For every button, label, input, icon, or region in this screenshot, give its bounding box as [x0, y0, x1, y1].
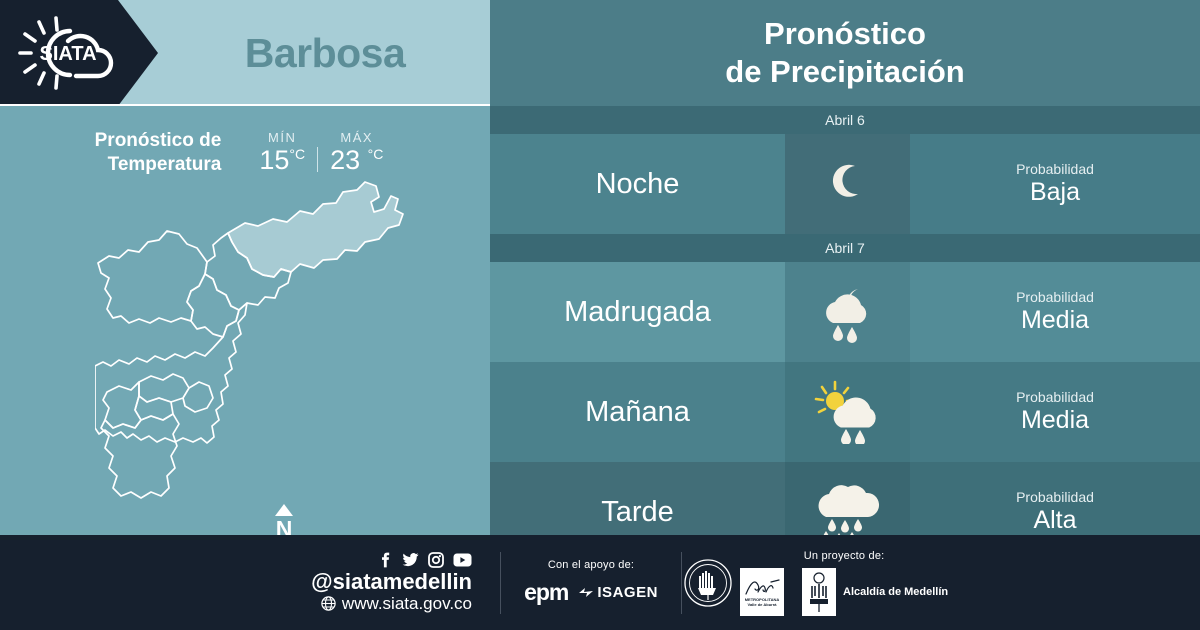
date-band-april-6: Abril 6	[490, 106, 1200, 134]
map-region-copacabana	[187, 274, 239, 337]
probability-value-tarde: Alta	[1033, 506, 1076, 535]
compass-arrow-icon	[275, 504, 293, 516]
temperature-max: MÁX 23 °C	[318, 130, 395, 176]
temperature-min-label: MÍN	[268, 130, 296, 145]
isagen-logo: ISAGEN	[578, 584, 658, 601]
social-handle[interactable]: @siatamedellin	[311, 570, 472, 594]
project-block: Un proyecto de: METROPOLITANA Valle de A…	[740, 550, 948, 616]
probability-caption: Probabilidad	[1016, 489, 1094, 505]
map-region-medellin	[95, 303, 247, 443]
globe-icon	[321, 596, 336, 611]
medellin-seal-glyph	[683, 558, 733, 608]
probability-caption: Probabilidad	[1016, 161, 1094, 177]
period-label-madrugada: Madrugada	[490, 262, 785, 362]
probability-value-noche: Baja	[1030, 178, 1080, 207]
celsius-unit-max: °C	[368, 146, 384, 162]
map-svg	[95, 176, 445, 526]
temperature-title-line1: Pronóstico de	[95, 129, 222, 153]
valle-de-aburra-map: N	[0, 176, 490, 535]
medellin-seal-icon	[682, 558, 734, 608]
alcaldia-logo-group: Alcaldía de Medellín	[802, 568, 948, 616]
moon-glyph	[820, 156, 876, 212]
header: SIATA Barbosa Pronóstico de Precipitació…	[0, 0, 1200, 106]
website-row[interactable]: www.siata.gov.co	[321, 594, 472, 614]
map-region-barbosa	[228, 182, 403, 277]
probability-caption: Probabilidad	[1016, 289, 1094, 305]
probability-value-manana: Media	[1021, 406, 1089, 435]
date-band-april-7: Abril 7	[490, 234, 1200, 262]
map-panel: Pronóstico de Temperatura MÍN 15°C MÁX 2…	[0, 106, 490, 535]
forecast-title: Pronóstico de Precipitación	[490, 0, 1200, 106]
celsius-unit-min: °C	[289, 146, 305, 162]
infographic-root: SIATA Barbosa Pronóstico de Precipitació…	[0, 0, 1200, 630]
header-divider	[0, 104, 490, 106]
sun-cloud-rain-glyph	[811, 380, 885, 444]
website-url: www.siata.gov.co	[342, 594, 472, 614]
temperature-min: MÍN 15°C	[247, 130, 317, 176]
map-region-bello	[98, 231, 207, 323]
city-title: Barbosa	[160, 0, 490, 106]
period-label-manana: Mañana	[490, 362, 785, 462]
forecast-row-madrugada[interactable]: Madrugada Probabilidad Media	[490, 262, 1200, 362]
support-caption: Con el apoyo de:	[548, 559, 634, 571]
temperature-min-value: 15°C	[259, 145, 305, 176]
instagram-icon[interactable]	[428, 552, 444, 568]
compass-north-label: N	[276, 517, 293, 535]
youtube-icon[interactable]	[453, 553, 472, 567]
area-script-icon	[743, 576, 781, 598]
compass-rose: N	[275, 504, 293, 535]
twitter-icon[interactable]	[402, 552, 419, 568]
map-region-itagui	[139, 374, 189, 402]
project-logos: METROPOLITANA Valle de Aburrá Alcaldía d…	[740, 568, 948, 616]
period-label-noche: Noche	[490, 134, 785, 234]
temperature-title-line2: Temperatura	[95, 153, 222, 177]
forecast-row-noche[interactable]: Noche Probabilidad Baja	[490, 134, 1200, 234]
temperature-max-value: 23 °C	[330, 145, 383, 176]
map-region-caldas	[101, 414, 179, 498]
footer: @siatamedellin www.siata.gov.co Con el a…	[0, 535, 1200, 630]
temperature-values: MÍN 15°C MÁX 23 °C	[247, 130, 395, 176]
forecast-title-line2: de Precipitación	[725, 53, 964, 91]
forecast-row-manana[interactable]: Mañana Pr	[490, 362, 1200, 462]
moon-icon	[785, 134, 910, 234]
map-region-la-estrella	[103, 382, 141, 428]
amva-sub-line2: Valle de Aburrá	[748, 603, 777, 608]
siata-logo-text: SIATA	[39, 43, 96, 65]
temperature-max-label: MÁX	[340, 130, 373, 145]
moon-cloud-rain-icon	[785, 262, 910, 362]
social-icons	[377, 552, 472, 568]
sun-cloud-rain-icon	[785, 362, 910, 462]
probability-value-madrugada: Media	[1021, 306, 1089, 335]
epm-logo: epm	[524, 579, 568, 606]
probability-madrugada: Probabilidad Media	[910, 262, 1200, 362]
facebook-icon[interactable]	[377, 552, 393, 568]
probability-caption: Probabilidad	[1016, 389, 1094, 405]
siata-logo-icon: SIATA	[12, 14, 124, 92]
area-metropolitana-logo: METROPOLITANA Valle de Aburrá	[740, 568, 784, 616]
alcaldia-label: Alcaldía de Medellín	[843, 586, 948, 598]
probability-noche: Probabilidad Baja	[910, 134, 1200, 234]
isagen-mark-icon	[578, 586, 594, 600]
temperature-title: Pronóstico de Temperatura	[95, 129, 222, 177]
moon-cloud-rain-glyph	[813, 281, 883, 343]
alcaldia-emblem-icon	[802, 568, 836, 616]
probability-manana: Probabilidad Media	[910, 362, 1200, 462]
precipitation-forecast-table: Abril 6 Noche Probabilidad Baja Abril 7 …	[490, 106, 1200, 535]
forecast-title-line1: Pronóstico	[764, 15, 926, 53]
support-logos: epm ISAGEN	[524, 579, 658, 606]
project-caption: Un proyecto de:	[804, 550, 885, 562]
social-block: @siatamedellin www.siata.gov.co	[0, 552, 500, 614]
support-block: Con el apoyo de: epm ISAGEN	[501, 559, 681, 606]
